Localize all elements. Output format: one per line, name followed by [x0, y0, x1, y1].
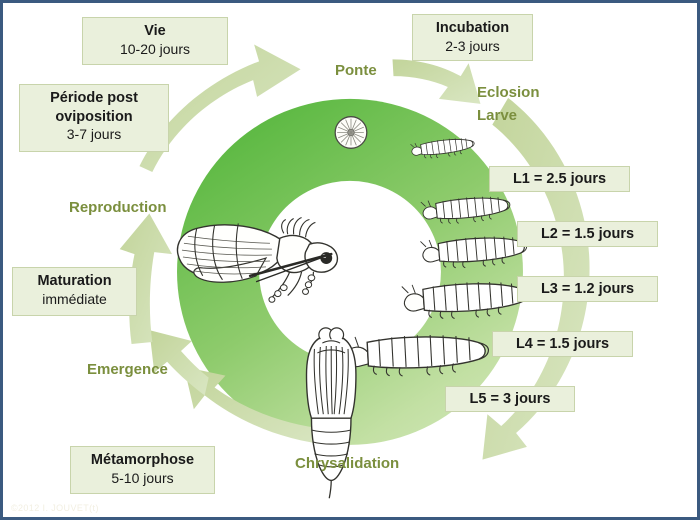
stage-label-emergence: Emergence	[87, 361, 168, 380]
info-box-l1-title: L1 = 2.5 jours	[513, 170, 606, 189]
info-box-periode-post-oviposition[interactable]: Période post oviposition 3-7 jours	[19, 84, 169, 152]
info-box-periode-title2: oviposition	[28, 108, 160, 127]
info-box-maturation-title: Maturation	[21, 272, 128, 291]
info-box-incubation-value: 2-3 jours	[421, 38, 524, 56]
info-box-vie[interactable]: Vie 10-20 jours	[82, 17, 228, 65]
info-box-periode-title: Période post	[28, 89, 160, 108]
stage-label-ponte: Ponte	[335, 62, 377, 81]
stage-label-larve: Larve	[477, 107, 517, 126]
info-box-maturation[interactable]: Maturation immédiate	[12, 267, 137, 316]
info-box-l3[interactable]: L3 = 1.2 jours	[517, 276, 658, 302]
info-box-metamorphose[interactable]: Métamorphose 5-10 jours	[70, 446, 215, 494]
info-box-vie-value: 10-20 jours	[91, 41, 219, 59]
info-box-metamorphose-value: 5-10 jours	[79, 470, 206, 488]
info-box-l2[interactable]: L2 = 1.5 jours	[517, 221, 658, 247]
info-box-l5[interactable]: L5 = 3 jours	[445, 386, 575, 412]
watermark-credit: ©2012 I. JOUVET(t)	[11, 503, 99, 513]
egg-illustration	[335, 117, 367, 149]
info-box-incubation-title: Incubation	[421, 19, 524, 38]
info-box-metamorphose-title: Métamorphose	[79, 451, 206, 470]
stage-label-eclosion: Eclosion	[477, 84, 540, 103]
info-box-l2-title: L2 = 1.5 jours	[541, 225, 634, 244]
diagram-canvas: Vie 10-20 jours Période post oviposition…	[0, 0, 700, 520]
info-box-periode-value: 3-7 jours	[28, 126, 160, 144]
info-box-incubation[interactable]: Incubation 2-3 jours	[412, 14, 533, 61]
info-box-l1[interactable]: L1 = 2.5 jours	[489, 166, 630, 192]
info-box-l4[interactable]: L4 = 1.5 jours	[492, 331, 633, 357]
info-box-vie-title: Vie	[91, 22, 219, 41]
info-box-l5-title: L5 = 3 jours	[470, 390, 551, 409]
stage-label-chrysalidation: Chrysalidation	[295, 455, 399, 474]
stage-label-reproduction: Reproduction	[69, 199, 167, 218]
info-box-maturation-value: immédiate	[21, 291, 128, 309]
info-box-l4-title: L4 = 1.5 jours	[516, 335, 609, 354]
info-box-l3-title: L3 = 1.2 jours	[541, 280, 634, 299]
